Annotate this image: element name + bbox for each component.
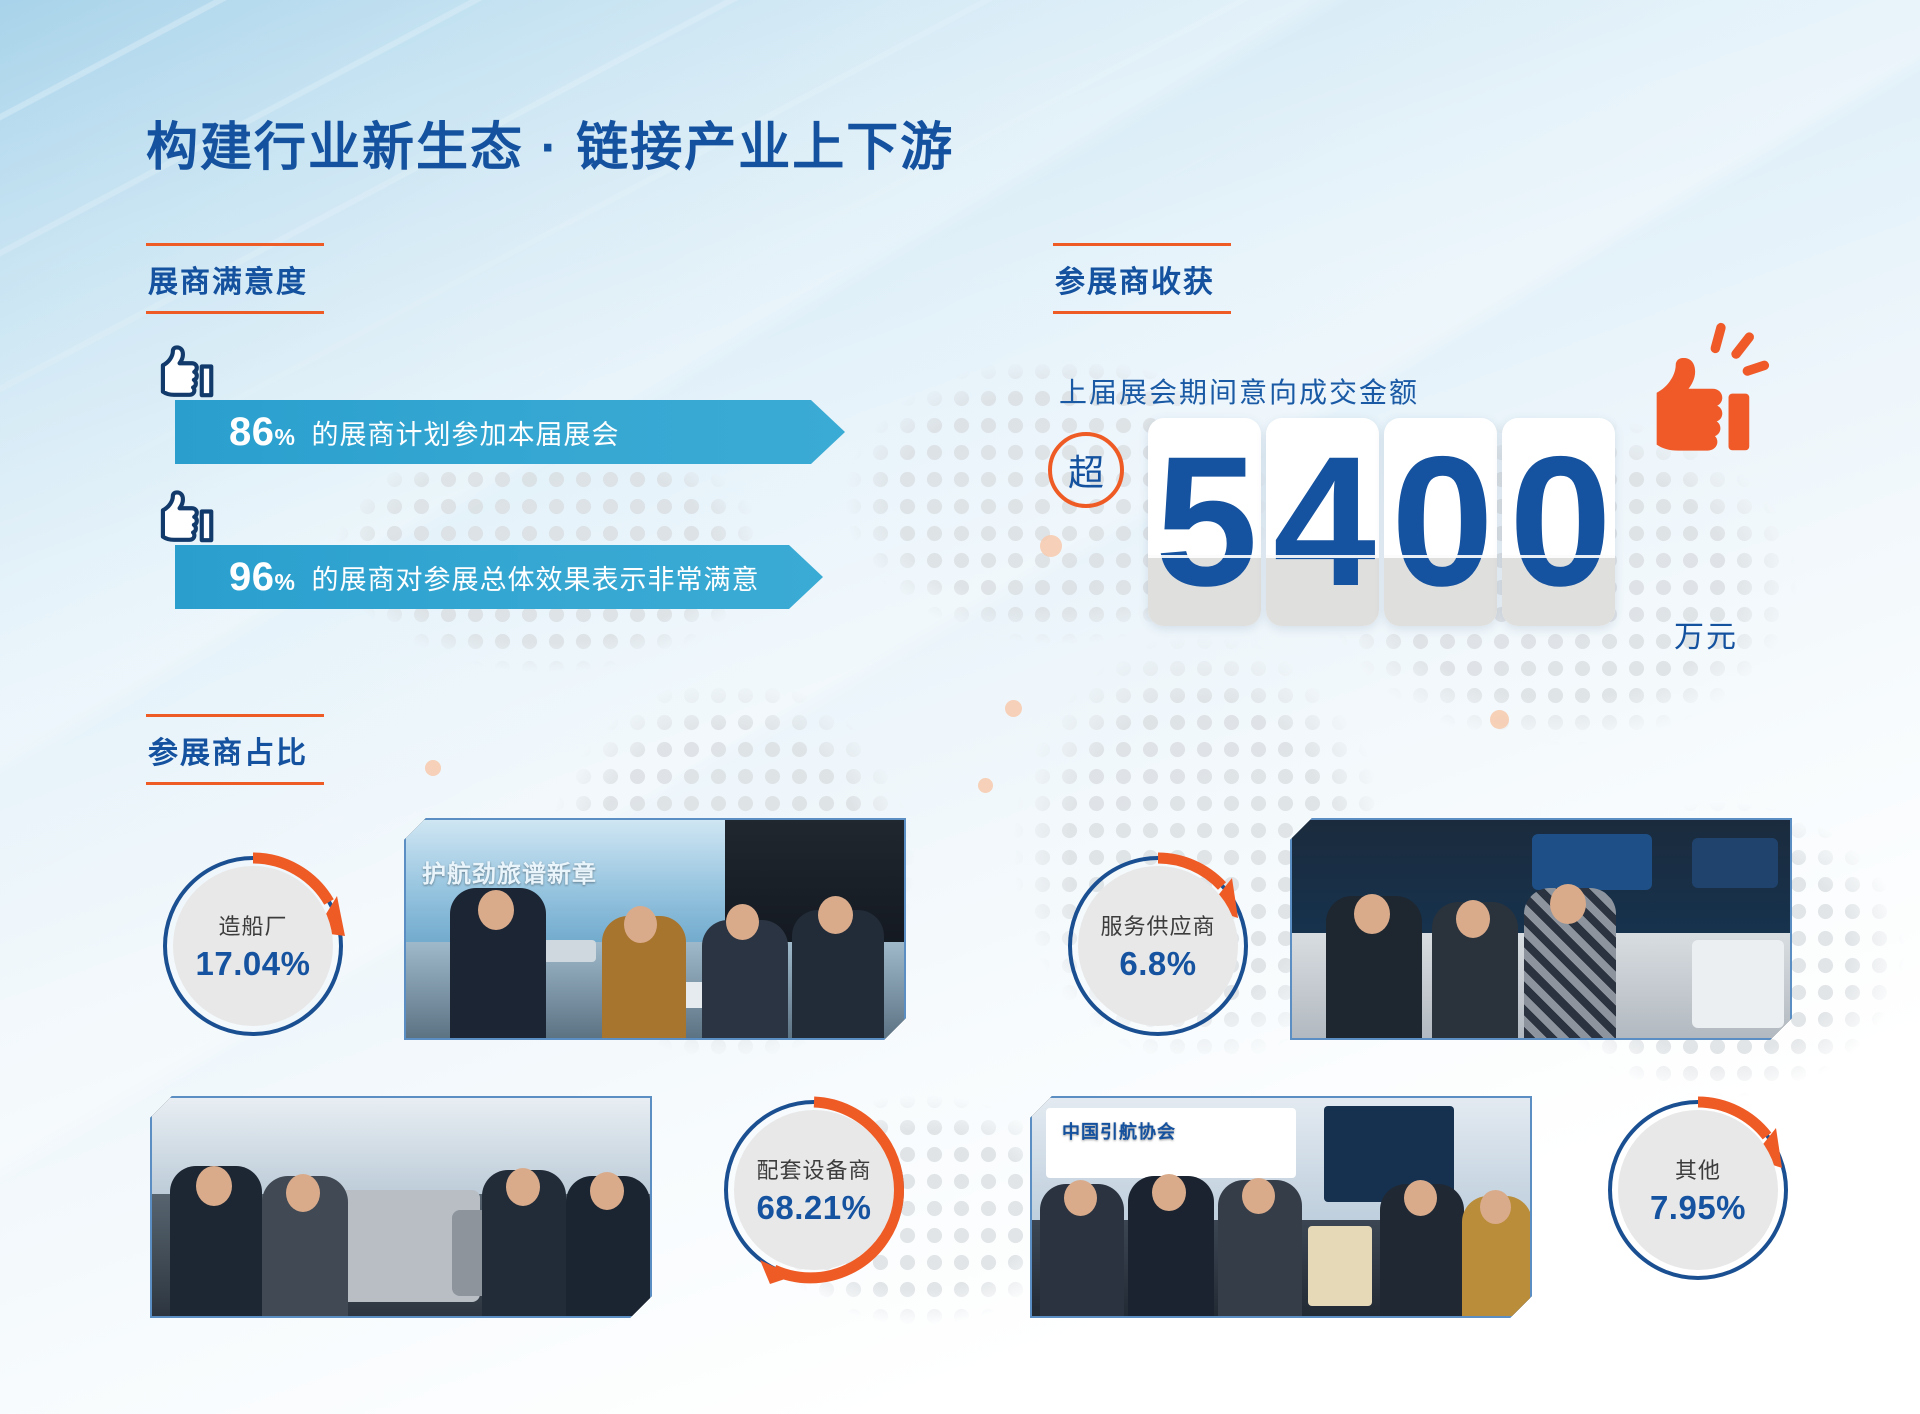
photo-service-booth	[1290, 818, 1792, 1040]
photo-person-head	[196, 1166, 232, 1206]
flip-card-seam	[1384, 555, 1497, 558]
donut-value: 68.21%	[757, 1189, 872, 1227]
section-title-gains: 参展商收获	[1053, 246, 1231, 311]
photo-person-head	[1456, 900, 1490, 938]
satisfaction-bar-1: 86% 的展商计划参加本届展会	[175, 400, 845, 464]
photo-person-head	[624, 906, 657, 943]
donut-core: 服务供应商 6.8%	[1078, 866, 1238, 1026]
section-header-satisfaction: 展商满意度	[146, 243, 324, 314]
satisfaction-text-1: 的展商计划参加本届展会	[311, 413, 619, 452]
photo-person-head	[506, 1168, 540, 1206]
donut-label: 其他	[1675, 1153, 1721, 1185]
section-header-share: 参展商占比	[146, 714, 324, 785]
satisfaction-pct-2: 96%	[229, 557, 295, 597]
donut-gauge-service: 服务供应商 6.8%	[1060, 848, 1256, 1044]
flip-card-seam	[1502, 555, 1615, 558]
flip-card-digit: 4	[1266, 418, 1379, 626]
photo-person-head	[478, 890, 514, 930]
photo-content	[152, 1098, 650, 1316]
photo-person-head	[818, 896, 853, 934]
photo-exhibit-case	[1308, 1226, 1372, 1306]
photo-person-head	[726, 904, 759, 940]
photo-counter	[1692, 940, 1784, 1028]
flip-digit-2: 4	[1266, 418, 1379, 626]
thumbs-up-icon	[148, 482, 222, 556]
photo-person-head	[1354, 894, 1390, 934]
flip-card-seam	[1266, 555, 1379, 558]
satisfaction-bar-2: 96% 的展商对参展总体效果表示非常满意	[175, 545, 823, 609]
flip-digit-4: 0	[1502, 418, 1615, 626]
photo-person-head	[1152, 1174, 1186, 1211]
photo-wall-graphic	[1692, 838, 1778, 888]
decor-dot	[978, 778, 993, 793]
donut-value: 17.04%	[196, 945, 311, 983]
photo-person-head	[286, 1174, 320, 1212]
photo-pilots-booth: 中国引航协会	[1030, 1096, 1532, 1318]
rule-bottom	[146, 782, 324, 785]
donut-gauge-other: 其他 7.95%	[1600, 1092, 1796, 1288]
flip-counter: 5 4 0 0	[1148, 418, 1615, 626]
decor-dot	[1490, 710, 1509, 729]
photo-person-head	[590, 1172, 624, 1210]
section-title-share: 参展商占比	[146, 717, 324, 782]
satisfaction-pct-1: 86%	[229, 412, 295, 452]
donut-gauge-shipyard: 造船厂 17.04%	[155, 848, 351, 1044]
photo-content	[1292, 820, 1790, 1038]
donut-label: 服务供应商	[1100, 909, 1215, 941]
photo-wall-graphic	[1532, 834, 1652, 890]
page-title: 构建行业新生态 · 链接产业上下游	[146, 105, 954, 180]
flip-card-seam	[1148, 555, 1261, 558]
decor-dot	[1040, 535, 1062, 557]
donut-core: 配套设备商 68.21%	[734, 1110, 894, 1270]
thumbs-up-icon	[148, 337, 222, 411]
infographic-canvas: 构建行业新生态 · 链接产业上下游 展商满意度 86% 的展商计划参加本届展会 …	[0, 0, 1920, 1414]
photo-banner-text: 护航劲旅谱新章	[422, 854, 597, 889]
photo-banner-text: 中国引航协会	[1062, 1118, 1176, 1144]
donut-core: 其他 7.95%	[1618, 1110, 1778, 1270]
donut-label: 配套设备商	[756, 1153, 871, 1185]
photo-person-head	[1404, 1180, 1437, 1216]
photo-person-head	[1242, 1178, 1275, 1214]
decor-dot	[425, 760, 441, 776]
photo-person-head	[1064, 1180, 1097, 1216]
donut-gauge-equipment: 配套设备商 68.21%	[716, 1092, 912, 1288]
section-title-satisfaction: 展商满意度	[146, 246, 324, 311]
photo-person-head	[1480, 1190, 1511, 1224]
prefix-badge-chao: 超	[1048, 432, 1124, 508]
photo-equipment-booth	[150, 1096, 652, 1318]
thumbs-up-icon	[1638, 318, 1770, 458]
flip-digit-3: 0	[1384, 418, 1497, 626]
deal-amount-unit: 万元	[1674, 612, 1738, 656]
photo-content: 护航劲旅谱新章	[406, 820, 904, 1038]
donut-label: 造船厂	[218, 909, 287, 941]
flip-digit-1: 5	[1148, 418, 1261, 626]
flip-card-digit: 0	[1502, 418, 1615, 626]
decor-dot	[1005, 700, 1022, 717]
photo-content: 中国引航协会	[1032, 1098, 1530, 1316]
donut-value: 6.8%	[1119, 945, 1196, 983]
satisfaction-text-2: 的展商对参展总体效果表示非常满意	[311, 558, 759, 597]
photo-person-head	[1550, 884, 1586, 924]
donut-core: 造船厂 17.04%	[173, 866, 333, 1026]
section-header-gains: 参展商收获	[1053, 243, 1231, 314]
rule-bottom	[146, 311, 324, 314]
flip-card-digit: 5	[1148, 418, 1261, 626]
rule-bottom	[1053, 311, 1231, 314]
deal-amount-label: 上届展会期间意向成交金额	[1059, 371, 1419, 411]
flip-card-digit: 0	[1384, 418, 1497, 626]
photo-shipyard-booth: 护航劲旅谱新章	[404, 818, 906, 1040]
donut-value: 7.95%	[1650, 1189, 1746, 1227]
